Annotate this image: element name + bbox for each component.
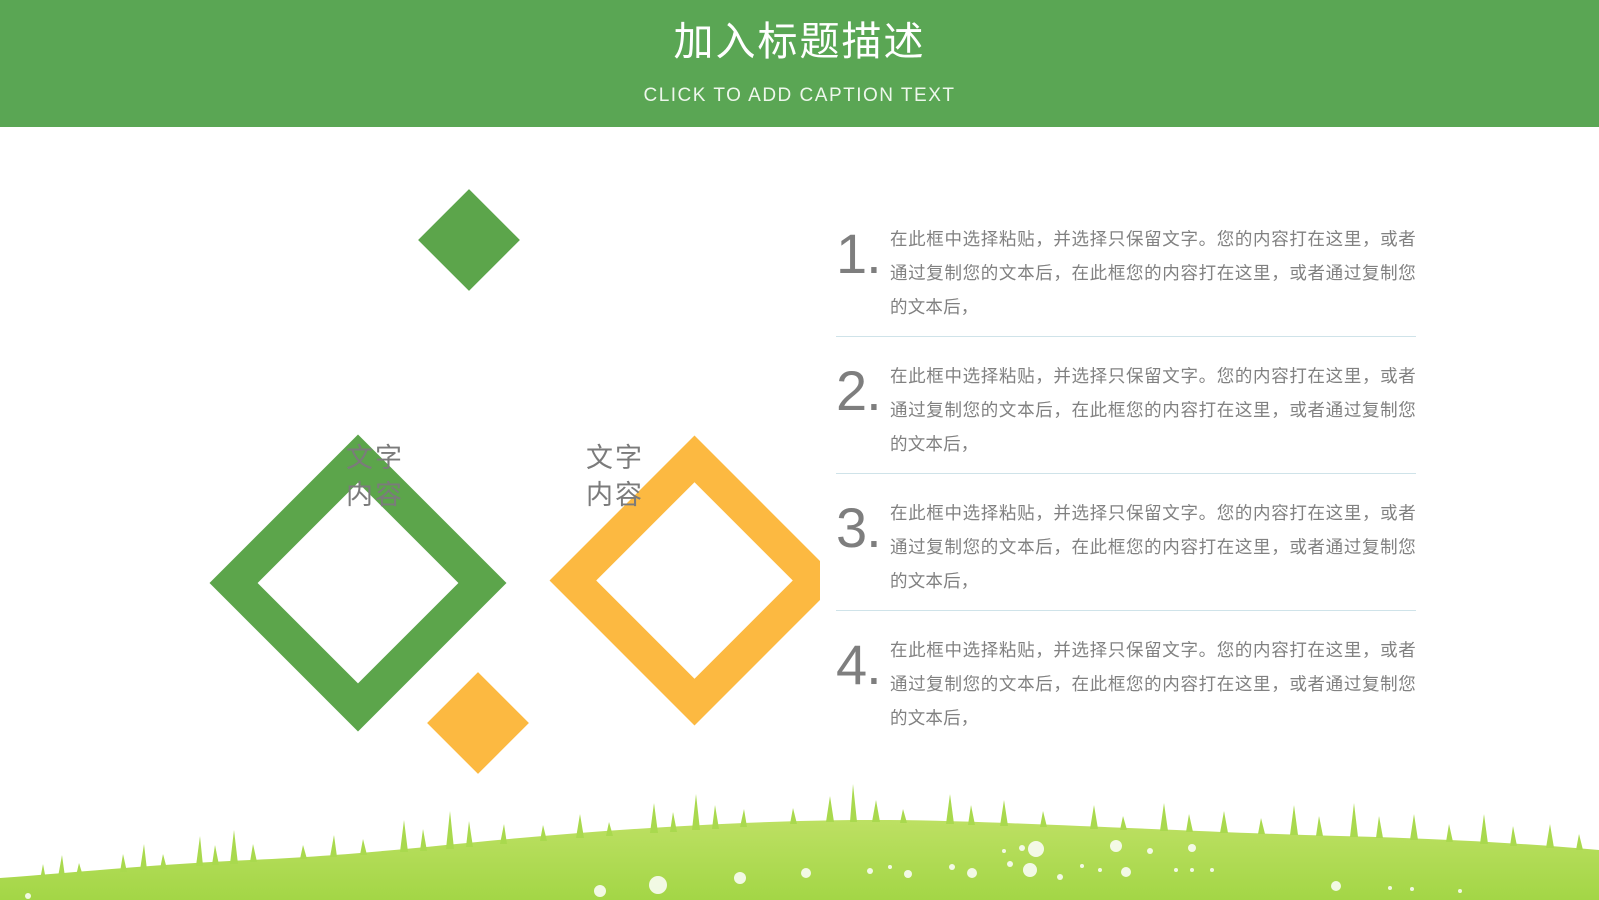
list-item-text: 在此框中选择粘贴，并选择只保留文字。您的内容打在这里，或者通过复制您的文本后，在…: [890, 625, 1416, 735]
list-item[interactable]: 2. 在此框中选择粘贴，并选择只保留文字。您的内容打在这里，或者通过复制您的文本…: [836, 351, 1416, 474]
grass-sparkle-dots: [25, 840, 1462, 899]
list-item[interactable]: 4. 在此框中选择粘贴，并选择只保留文字。您的内容打在这里，或者通过复制您的文本…: [836, 625, 1416, 747]
orange-small-diamond: [427, 672, 529, 774]
green-diamond-label-line1: 文字: [315, 440, 435, 477]
list-item-number: 3.: [836, 488, 890, 558]
grass-blades: [40, 784, 1583, 880]
orange-diamond-label-line2: 内容: [555, 477, 675, 514]
list-item-number: 4.: [836, 625, 890, 695]
content-list: 1. 在此框中选择粘贴，并选择只保留文字。您的内容打在这里，或者通过复制您的文本…: [836, 214, 1416, 761]
list-item[interactable]: 1. 在此框中选择粘贴，并选择只保留文字。您的内容打在这里，或者通过复制您的文本…: [836, 214, 1416, 337]
green-diamond-label-line2: 内容: [315, 477, 435, 514]
green-diamond-label: 文字 内容: [315, 440, 435, 514]
orange-diamond-label: 文字 内容: [555, 440, 675, 514]
list-item-text: 在此框中选择粘贴，并选择只保留文字。您的内容打在这里，或者通过复制您的文本后，在…: [890, 488, 1416, 598]
grass-hill: [0, 820, 1599, 900]
green-small-diamond: [418, 189, 520, 291]
grass-footer-decoration: [0, 760, 1599, 900]
page-subtitle: CLICK TO ADD CAPTION TEXT: [0, 84, 1599, 108]
list-item-text: 在此框中选择粘贴，并选择只保留文字。您的内容打在这里，或者通过复制您的文本后，在…: [890, 351, 1416, 461]
list-item[interactable]: 3. 在此框中选择粘贴，并选择只保留文字。您的内容打在这里，或者通过复制您的文本…: [836, 488, 1416, 611]
list-item-text: 在此框中选择粘贴，并选择只保留文字。您的内容打在这里，或者通过复制您的文本后，在…: [890, 214, 1416, 324]
page-title: 加入标题描述: [0, 18, 1599, 66]
interlocking-diamonds-diagram: 文字 内容 文字 内容: [120, 160, 820, 780]
orange-diamond-label-line1: 文字: [555, 440, 675, 477]
list-item-number: 1.: [836, 214, 890, 284]
list-item-number: 2.: [836, 351, 890, 421]
header-banner: 加入标题描述 CLICK TO ADD CAPTION TEXT: [0, 0, 1599, 127]
